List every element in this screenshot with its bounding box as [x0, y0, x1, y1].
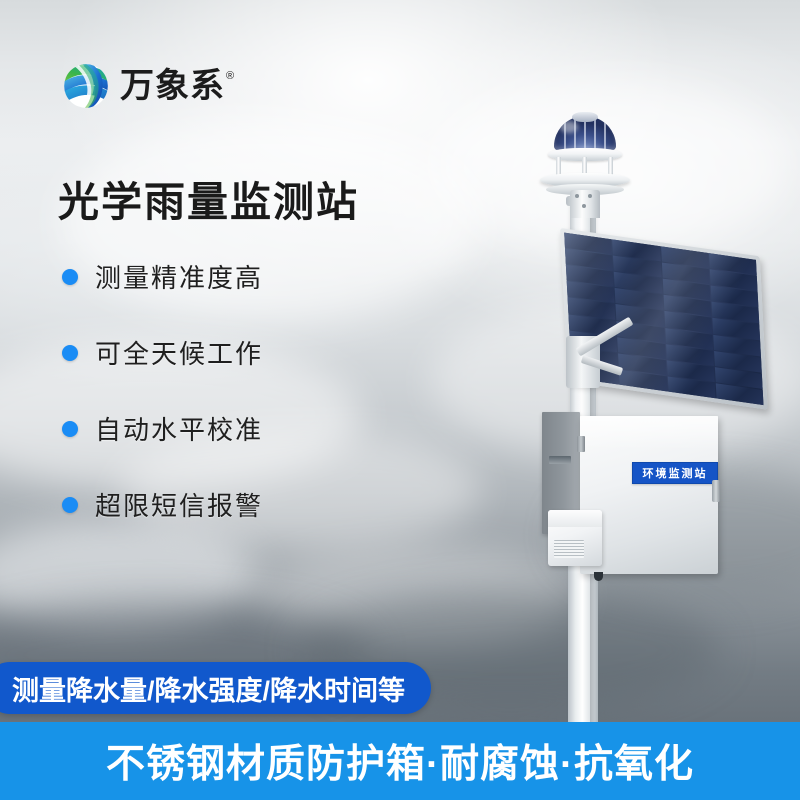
cabinet-vent-icon [549, 456, 571, 464]
sensor-dome-top-icon [572, 112, 598, 122]
bullet-dot-icon [62, 345, 78, 361]
feature-label: 可全天候工作 [95, 334, 263, 371]
feature-label: 超限短信报警 [95, 486, 263, 523]
optical-rain-sensor-icon [532, 116, 638, 208]
cabinet-small-enclosure-icon [548, 510, 602, 566]
cabinet-label-text: 环境监测站 [643, 465, 708, 481]
bottom-highlight-bar: 不锈钢材质防护箱·耐腐蚀·抗氧化 [0, 722, 800, 800]
small-enclosure-lid [548, 510, 602, 527]
bullet-dot-icon [62, 497, 78, 513]
brand-name: 万象系 [120, 69, 225, 103]
list-item: 超限短信报警 [62, 486, 263, 523]
feature-label: 测量精准度高 [95, 258, 263, 295]
cabinet-label-plate: 环境监测站 [632, 462, 718, 484]
feature-list: 测量精准度高 可全天候工作 自动水平校准 超限短信报警 [62, 258, 263, 523]
bullet-dot-icon [62, 269, 78, 285]
bottom-highlight-text: 不锈钢材质防护箱·耐腐蚀·抗氧化 [106, 733, 694, 789]
list-item: 可全天候工作 [62, 334, 263, 371]
list-item: 自动水平校准 [62, 410, 263, 447]
cabinet-latch-icon [712, 480, 720, 502]
measurement-capability-banner: 测量降水量/降水强度/降水时间等 [0, 662, 431, 714]
small-enclosure-grille-icon [554, 540, 584, 558]
swirl-globe-icon [60, 60, 112, 112]
junction-box-icon: 环境监测站 [542, 412, 722, 584]
bullet-dot-icon [62, 421, 78, 437]
brand-logo: 万象系 ® [60, 60, 234, 112]
cabinet-hinge-icon [577, 436, 585, 452]
cabinet-drain-cap-icon [594, 572, 603, 581]
list-item: 测量精准度高 [62, 258, 263, 295]
registered-trademark-icon: ® [226, 71, 234, 82]
monitoring-station-photo: 环境监测站 [470, 100, 800, 720]
product-poster: 环境监测站 [0, 0, 800, 800]
feature-label: 自动水平校准 [95, 410, 263, 447]
measurement-capability-text: 测量降水量/降水强度/降水时间等 [12, 669, 405, 708]
sensor-neck-icon [570, 190, 600, 218]
page-title: 光学雨量监测站 [58, 168, 359, 228]
